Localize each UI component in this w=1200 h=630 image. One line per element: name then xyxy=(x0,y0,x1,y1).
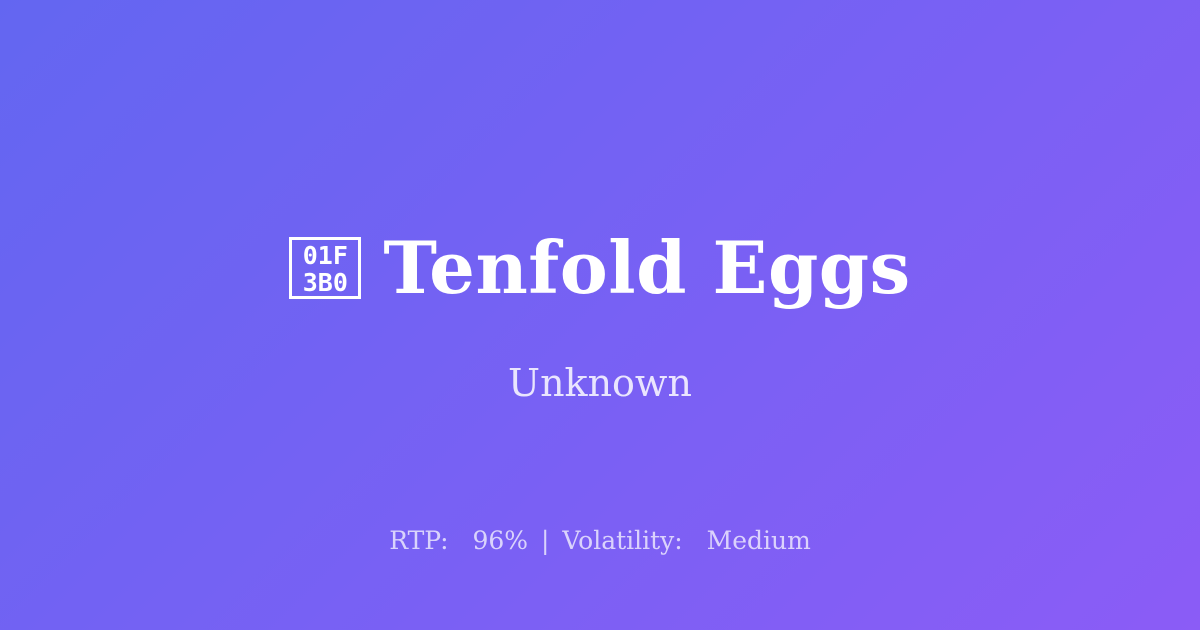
stats-separator: | xyxy=(536,526,554,555)
codepoint-top: 01F xyxy=(303,242,348,269)
volatility-label: Volatility: xyxy=(562,526,682,555)
slot-machine-emoji-icon: 01F 3B0 xyxy=(289,237,361,299)
rtp-value: 96% xyxy=(472,526,528,555)
volatility-value: Medium xyxy=(707,526,811,555)
rtp-label: RTP: xyxy=(389,526,448,555)
game-preview-card: 01F 3B0 Tenfold Eggs Unknown RTP: 96% | … xyxy=(0,0,1200,630)
title-row: 01F 3B0 Tenfold Eggs xyxy=(0,232,1200,304)
game-stats: RTP: 96% | Volatility: Medium xyxy=(0,526,1200,556)
game-provider: Unknown xyxy=(0,362,1200,406)
page-title: Tenfold Eggs xyxy=(383,232,910,304)
codepoint-bottom: 3B0 xyxy=(303,269,348,296)
